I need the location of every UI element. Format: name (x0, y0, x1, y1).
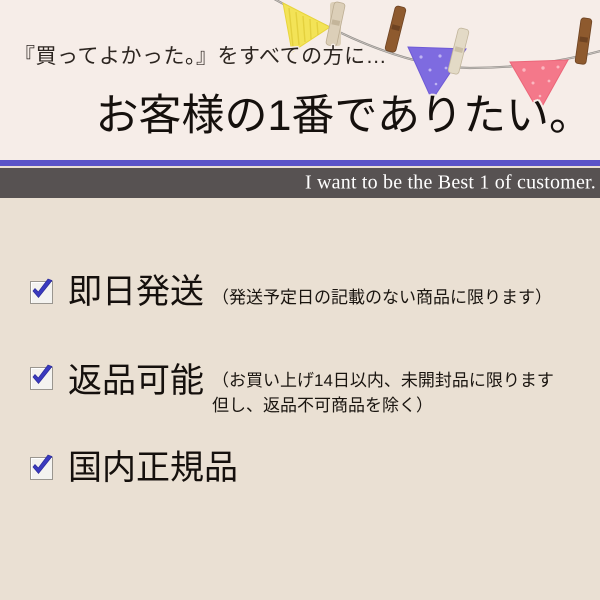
hero-headline: お客様の1番でありたい。 (96, 95, 592, 138)
feature-note: （発送予定日の記載のない商品に限ります） (212, 286, 552, 311)
feature-title: 国内正規品 (68, 448, 238, 488)
clothespin-icon-2 (385, 5, 407, 52)
checkbox-checked-icon (28, 278, 55, 305)
feature-note: （お買い上げ14日以内、未開封品に限ります 但し、返品不可商品を除く） (212, 369, 554, 418)
tagline-bar: I want to be the Best 1 of customer. (0, 168, 600, 198)
accent-rule (0, 160, 600, 166)
clothespin-icon-3 (448, 27, 470, 74)
feature-item-same-day-shipping: 即日発送 （発送予定日の記載のない商品に限ります） (28, 272, 552, 312)
clothespin-icon-4 (575, 18, 592, 65)
tagline-text: I want to be the Best 1 of customer. (305, 172, 596, 195)
feature-item-domestic-genuine: 国内正規品 (28, 448, 246, 488)
promo-banner-page: 『買ってよかった。』をすべての方に… お客様の1番でありたい。 I want t… (0, 0, 600, 600)
feature-title: 即日発送 (68, 272, 204, 312)
hero-section: 『買ってよかった。』をすべての方に… お客様の1番でありたい。 (0, 0, 600, 160)
feature-title: 返品可能 (68, 361, 204, 401)
feature-item-returns-accepted: 返品可能 （お買い上げ14日以内、未開封品に限ります 但し、返品不可商品を除く） (28, 358, 554, 421)
checkbox-checked-icon (28, 454, 55, 481)
features-section: 即日発送 （発送予定日の記載のない商品に限ります） 返品可能 （お買い上げ14日… (0, 198, 600, 600)
hero-subheading: 『買ってよかった。』をすべての方に… (14, 40, 387, 70)
checkbox-checked-icon (28, 364, 55, 391)
